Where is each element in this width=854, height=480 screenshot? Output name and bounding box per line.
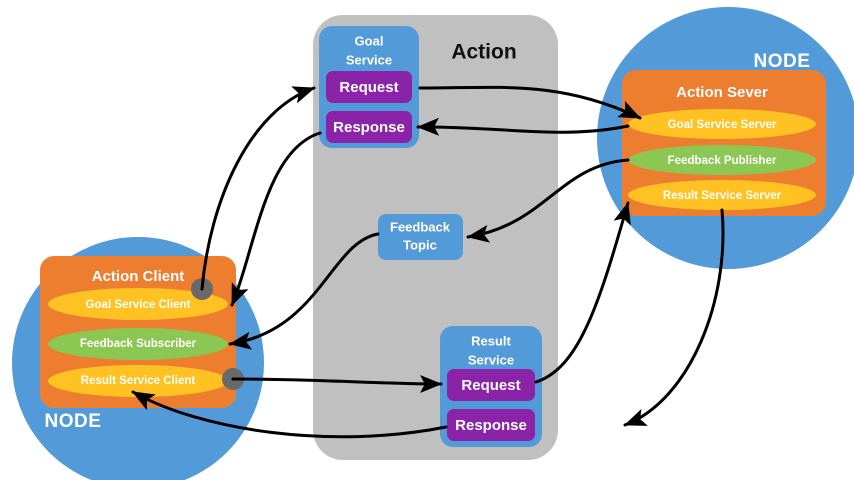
server-node-label: NODE <box>754 51 811 72</box>
result-service-response-label[interactable]: Response <box>455 417 527 434</box>
result-service-request-label[interactable]: Request <box>461 377 520 394</box>
feedback-topic-title-line1: Feedback <box>390 219 451 234</box>
goal-service-request-label[interactable]: Request <box>339 79 398 96</box>
pill-label-feedback-subscriber[interactable]: Feedback Subscriber <box>80 338 197 350</box>
action-server-title: Action Sever <box>676 84 768 101</box>
action-client-title: Action Client <box>92 268 185 285</box>
pill-label-goal-service-server[interactable]: Goal Service Server <box>668 119 777 131</box>
diagram-canvas: Action Goal Service Request Response Res… <box>0 0 854 480</box>
result-service-title-line1: Result <box>471 333 511 348</box>
feedback-topic-title-line2: Topic <box>403 237 437 252</box>
pill-label-result-service-client[interactable]: Result Service Client <box>81 375 196 387</box>
pill-label-feedback-publisher[interactable]: Feedback Publisher <box>668 155 777 167</box>
pill-label-result-service-server[interactable]: Result Service Server <box>663 190 782 202</box>
pill-label-goal-service-client[interactable]: Goal Service Client <box>86 299 191 311</box>
goal-service-response-label[interactable]: Response <box>333 119 405 136</box>
client-node-label: NODE <box>45 411 102 432</box>
result-service-title-line2: Service <box>468 352 514 367</box>
action-container-label: Action <box>451 41 516 64</box>
goal-service-title-line2: Service <box>346 52 392 67</box>
goal-service-title-line1: Goal <box>355 33 384 48</box>
diagram-labels: Action Goal Service Request Response Res… <box>0 0 854 480</box>
